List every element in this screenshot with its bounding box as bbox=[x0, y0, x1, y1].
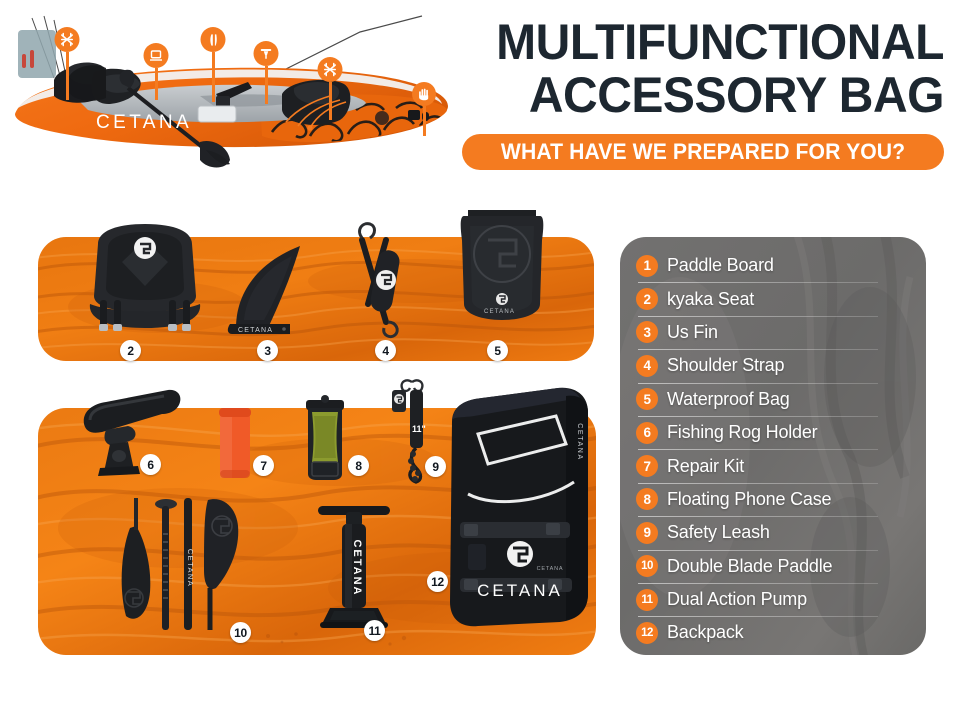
legend-badge-3: 3 bbox=[636, 321, 658, 343]
legend-label-9: Safety Leash bbox=[667, 522, 770, 543]
legend-badge-7: 7 bbox=[636, 455, 658, 477]
legend-badge-2: 2 bbox=[636, 288, 658, 310]
accessory-legend-panel: 1 Paddle Board 2 kyaka Seat 3 Us Fin 4 S… bbox=[620, 237, 926, 655]
product-double-blade-paddle: CETANA bbox=[112, 494, 248, 644]
legend-item-1[interactable]: 1 Paddle Board bbox=[636, 249, 912, 282]
svg-text:CETANA: CETANA bbox=[576, 423, 583, 460]
legend-item-11[interactable]: 11 Dual Action Pump bbox=[636, 583, 912, 616]
title-line-1: MULTIFUNCTIONAL bbox=[481, 18, 944, 67]
legend-item-12[interactable]: 12 Backpack bbox=[636, 616, 912, 649]
badge-5: 5 bbox=[487, 340, 508, 361]
badge-2: 2 bbox=[120, 340, 141, 361]
product-waterproof-bag: CETANA bbox=[452, 196, 552, 326]
badge-12: 12 bbox=[427, 571, 448, 592]
legend-item-4[interactable]: 4 Shoulder Strap bbox=[636, 349, 912, 382]
legend-badge-6: 6 bbox=[636, 422, 658, 444]
crossed-straps-icon bbox=[318, 57, 343, 82]
svg-text:CETANA: CETANA bbox=[351, 539, 363, 596]
product-fishing-rod-holder bbox=[76, 384, 186, 478]
legend-badge-12: 12 bbox=[636, 622, 658, 644]
legend-item-9[interactable]: 9 Safety Leash bbox=[636, 516, 912, 549]
legend-badge-5: 5 bbox=[636, 388, 658, 410]
legend-label-10: Double Blade Paddle bbox=[667, 556, 832, 577]
crossed-straps-icon bbox=[55, 27, 80, 52]
badge-6: 6 bbox=[140, 454, 161, 475]
legend-badge-11: 11 bbox=[636, 589, 658, 611]
svg-text:CETANA: CETANA bbox=[537, 566, 564, 572]
legend-badge-10: 10 bbox=[636, 555, 658, 577]
legend-badge-8: 8 bbox=[636, 488, 658, 510]
subtitle-text: WHAT HAVE WE PREPARED FOR YOU? bbox=[501, 139, 905, 165]
legend-label-7: Repair Kit bbox=[667, 456, 744, 477]
subtitle-pill: WHAT HAVE WE PREPARED FOR YOU? bbox=[462, 134, 944, 170]
phone-case-icon bbox=[144, 43, 169, 68]
rod-holder-icon bbox=[254, 41, 279, 66]
legend-rows: 1 Paddle Board 2 kyaka Seat 3 Us Fin 4 S… bbox=[620, 237, 926, 655]
badge-4: 4 bbox=[375, 340, 396, 361]
legend-label-3: Us Fin bbox=[667, 322, 718, 343]
badge-10: 10 bbox=[230, 622, 251, 643]
svg-text:11": 11" bbox=[412, 424, 426, 434]
legend-item-2[interactable]: 2 kyaka Seat bbox=[636, 282, 912, 315]
deck-tray bbox=[198, 106, 236, 122]
svg-text:CETANA: CETANA bbox=[186, 549, 195, 587]
legend-label-11: Dual Action Pump bbox=[667, 589, 807, 610]
product-shoulder-strap bbox=[340, 218, 426, 342]
legend-item-7[interactable]: 7 Repair Kit bbox=[636, 449, 912, 482]
badge-8: 8 bbox=[348, 455, 369, 476]
product-us-fin: CETANA bbox=[222, 240, 322, 340]
hand-leash-icon bbox=[412, 82, 436, 106]
legend-item-8[interactable]: 8 Floating Phone Case bbox=[636, 483, 912, 516]
badge-9: 9 bbox=[425, 456, 446, 477]
legend-item-10[interactable]: 10 Double Blade Paddle bbox=[636, 550, 912, 583]
product-floating-phone-case bbox=[302, 394, 348, 486]
legend-item-5[interactable]: 5 Waterproof Bag bbox=[636, 383, 912, 416]
legend-label-8: Floating Phone Case bbox=[667, 489, 831, 510]
legend-label-6: Fishing Rog Holder bbox=[667, 422, 817, 443]
legend-label-5: Waterproof Bag bbox=[667, 389, 790, 410]
svg-text:CETANA: CETANA bbox=[477, 581, 563, 600]
legend-badge-9: 9 bbox=[636, 522, 658, 544]
legend-badge-4: 4 bbox=[636, 355, 658, 377]
product-dual-action-pump: CETANA bbox=[312, 498, 396, 634]
product-kyaka-seat bbox=[74, 222, 216, 340]
badge-3: 3 bbox=[257, 340, 278, 361]
header-block: MULTIFUNCTIONAL ACCESSORY BAG WHAT HAVE … bbox=[462, 18, 944, 170]
hero-product-image: CETANA bbox=[10, 10, 460, 195]
product-backpack: CETANA CETANA CETANA bbox=[438, 382, 598, 632]
infographic-page: CETANA bbox=[0, 0, 960, 720]
paddle-shaft-2: CETANA bbox=[184, 498, 195, 630]
legend-label-2: kyaka Seat bbox=[667, 289, 754, 310]
legend-label-12: Backpack bbox=[667, 622, 743, 643]
paddle-shaft-1 bbox=[155, 499, 177, 630]
badge-11: 11 bbox=[364, 620, 385, 641]
svg-text:CETANA: CETANA bbox=[238, 327, 273, 334]
product-repair-kit bbox=[214, 404, 256, 486]
legend-badge-1: 1 bbox=[636, 255, 658, 277]
title-line-2: ACCESSORY BAG bbox=[481, 71, 944, 120]
legend-label-1: Paddle Board bbox=[667, 255, 774, 276]
paddle-blade-icon bbox=[201, 27, 226, 52]
svg-text:CETANA: CETANA bbox=[484, 309, 515, 315]
legend-item-6[interactable]: 6 Fishing Rog Holder bbox=[636, 416, 912, 449]
hull-brand-text: CETANA bbox=[96, 112, 192, 133]
badge-7: 7 bbox=[253, 455, 274, 476]
legend-item-3[interactable]: 3 Us Fin bbox=[636, 316, 912, 349]
legend-label-4: Shoulder Strap bbox=[667, 355, 784, 376]
